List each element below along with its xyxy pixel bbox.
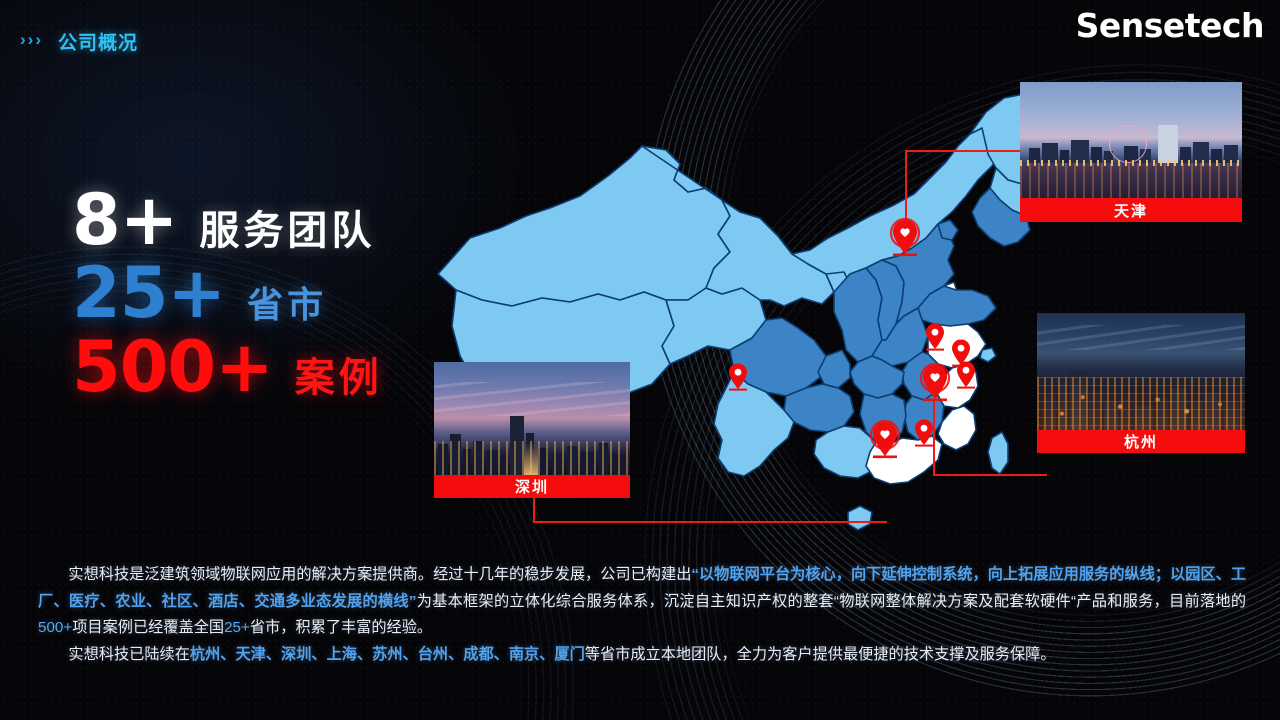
stat-label-provinces: 省市 bbox=[247, 276, 327, 328]
p1-part-a: 实想科技是泛建筑领域物联网应用的解决方案提供商。经过十几年的稳步发展，公司已构建… bbox=[68, 566, 691, 583]
city-photo-tianjin bbox=[1020, 82, 1242, 198]
p2-part-a: 实想科技已陆续在 bbox=[68, 646, 190, 663]
page-title: 公司概况 bbox=[58, 28, 138, 55]
city-card-label-hangzhou: 杭州 bbox=[1037, 430, 1245, 453]
city-card-label-shenzhen: 深圳 bbox=[434, 475, 630, 498]
stat-label-cases: 案例 bbox=[295, 345, 383, 403]
ferris-wheel-icon bbox=[1109, 125, 1147, 163]
map-pin-suzhou[interactable] bbox=[924, 322, 946, 352]
city-card-tianjin[interactable]: 天津 bbox=[1020, 82, 1242, 222]
stat-number-cases: 500+ bbox=[72, 332, 273, 403]
map-pin-chengdu[interactable] bbox=[727, 362, 749, 392]
connector-hangzhou bbox=[933, 400, 1047, 476]
p2-part-b: 等省市成立本地团队，全力为客户提供最便捷的技术支撑及服务保障。 bbox=[585, 646, 1056, 663]
connector-shenzhen bbox=[533, 497, 887, 523]
map-pin-shenzhen[interactable] bbox=[870, 420, 900, 460]
connector-tianjin bbox=[905, 150, 1022, 244]
city-card-shenzhen[interactable]: 深圳 bbox=[434, 362, 630, 498]
stats-block: 8+ 服务团队 25+ 省市 500+ 案例 bbox=[72, 185, 383, 403]
body-paragraphs: 实想科技是泛建筑领域物联网应用的解决方案提供商。经过十几年的稳步发展，公司已构建… bbox=[38, 562, 1246, 668]
map-pin-taizhou[interactable] bbox=[913, 418, 935, 448]
city-card-label-tianjin: 天津 bbox=[1020, 198, 1242, 222]
city-photo-shenzhen bbox=[434, 362, 630, 475]
city-photo-hangzhou bbox=[1037, 313, 1245, 430]
slide: ››› 公司概况 Sensetech 8+ 服务团队 25+ 省市 500+ 案… bbox=[0, 0, 1280, 720]
stat-row-cases: 500+ 案例 bbox=[72, 332, 383, 403]
p1-part-c: 项目案例已经覆盖全国 bbox=[72, 619, 224, 636]
map-pin-tianjin[interactable] bbox=[890, 218, 920, 258]
p1-part-d: 省市，积累了丰富的经验。 bbox=[250, 619, 432, 636]
city-card-hangzhou[interactable]: 杭州 bbox=[1037, 313, 1245, 453]
paragraph-1: 实想科技是泛建筑领域物联网应用的解决方案提供商。经过十几年的稳步发展，公司已构建… bbox=[38, 562, 1246, 642]
stat-label-teams: 服务团队 bbox=[199, 198, 375, 256]
paragraph-2: 实想科技已陆续在杭州、天津、深圳、上海、苏州、台州、成都、南京、厦门等省市成立本… bbox=[38, 642, 1246, 669]
p2-city-list: 杭州、天津、深圳、上海、苏州、台州、成都、南京、厦门 bbox=[190, 646, 585, 663]
p1-number-cases: 500+ bbox=[38, 619, 72, 636]
stat-number-teams: 8+ bbox=[72, 185, 177, 256]
map-pin-shanghai[interactable] bbox=[955, 360, 977, 390]
map-pin-hangzhou[interactable] bbox=[920, 363, 950, 403]
p1-part-b: 为基本框架的立体化综合服务体系，沉淀自主知识产权的整套“物联网整体解决方案及配套… bbox=[416, 593, 1246, 610]
stat-number-provinces: 25+ bbox=[72, 258, 225, 329]
stat-row-provinces: 25+ 省市 bbox=[72, 258, 383, 329]
brand-logo: Sensetech bbox=[1076, 6, 1264, 45]
chevron-right-icon: ››› bbox=[20, 31, 41, 48]
stat-row-teams: 8+ 服务团队 bbox=[72, 185, 383, 256]
p1-number-provinces: 25+ bbox=[224, 619, 250, 636]
